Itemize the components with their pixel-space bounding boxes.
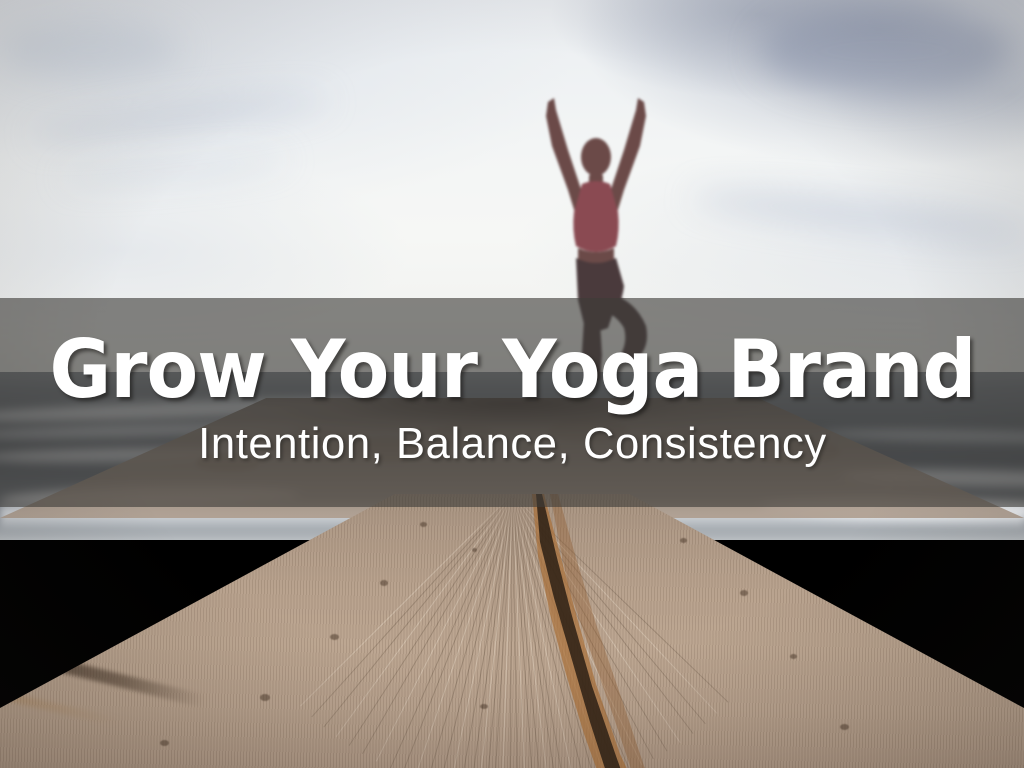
slide-title: Grow Your Yoga Brand: [49, 332, 975, 409]
slide-subtitle: Intention, Balance, Consistency: [198, 421, 827, 467]
presentation-slide: Grow Your Yoga Brand Intention, Balance,…: [0, 0, 1024, 768]
wooden-plank: [0, 494, 1024, 768]
wood-crack: [0, 494, 1024, 768]
title-overlay-band: Grow Your Yoga Brand Intention, Balance,…: [0, 298, 1024, 507]
